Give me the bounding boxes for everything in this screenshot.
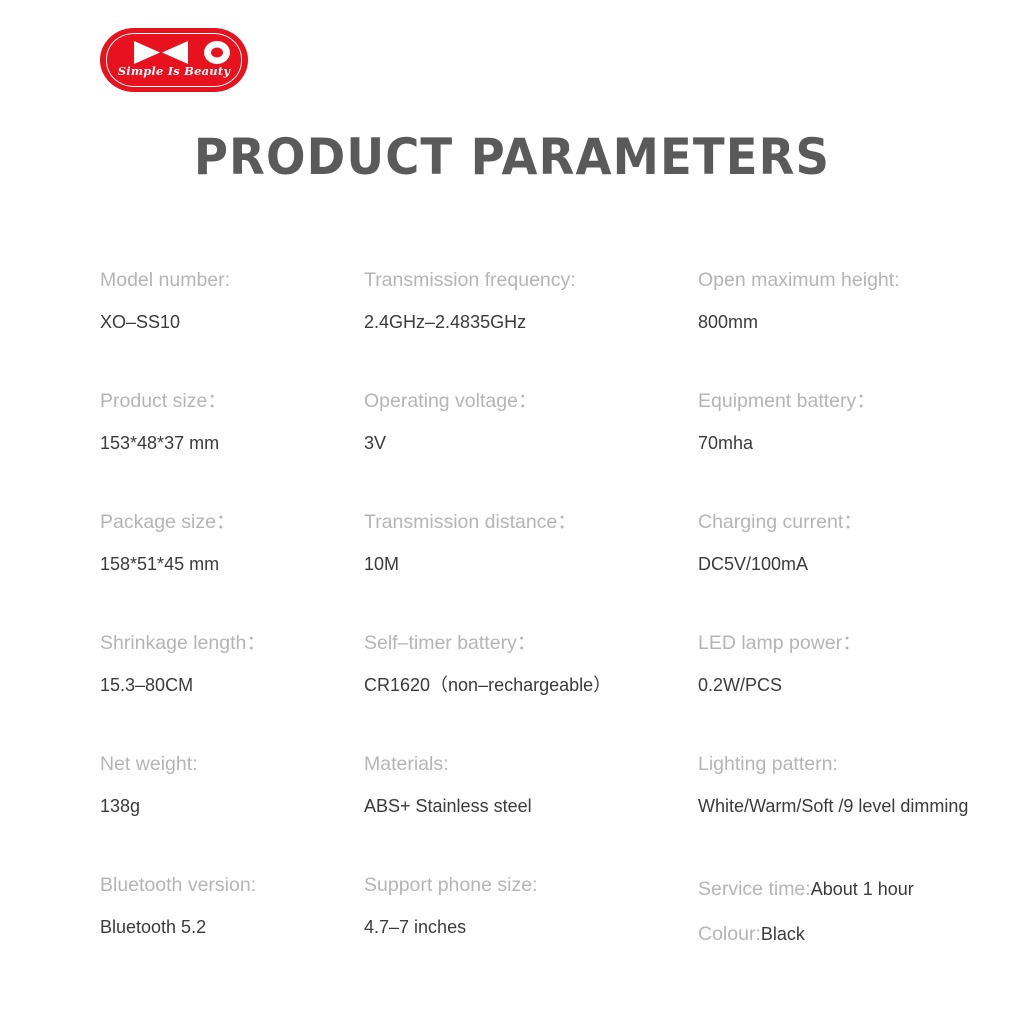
product-parameters-page: Simple Is Beauty PRODUCT PARAMETERS Mode… (0, 0, 1024, 1024)
spec-value: Bluetooth 5.2 (100, 915, 364, 939)
spec-value: 2.4GHz–2.4835GHz (364, 310, 698, 334)
spec-item-service-time: Service time: About 1 hour (698, 873, 960, 918)
spec-label: Shrinkage length： (100, 631, 364, 655)
spec-label: Operating voltage： (364, 389, 698, 413)
spec-label: Colour: (698, 923, 761, 945)
spec-value: 138g (100, 794, 364, 818)
spec-item-self-timer-battery: Self–timer battery： CR1620（non–rechargea… (364, 631, 698, 752)
specifications-grid: Model number: XO–SS10 Product size： 153*… (100, 268, 960, 994)
page-title: PRODUCT PARAMETERS (36, 128, 988, 186)
spec-item-charging-current: Charging current： DC5V/100mA (698, 510, 960, 631)
spec-item-transmission-distance: Transmission distance： 10M (364, 510, 698, 631)
spec-value: 10M (364, 552, 698, 576)
spec-value: White/Warm/Soft /9 level dimming (698, 794, 960, 818)
spec-item-product-size: Product size： 153*48*37 mm (100, 389, 364, 510)
spec-label: Bluetooth version: (100, 873, 364, 897)
spec-item-open-maximum-height: Open maximum height: 800mm (698, 268, 960, 389)
spec-label: Lighting pattern: (698, 752, 960, 776)
spec-item-package-size: Package size： 158*51*45 mm (100, 510, 364, 631)
spec-value: XO–SS10 (100, 310, 364, 334)
spec-item-net-weight: Net weight: 138g (100, 752, 364, 873)
spec-value: 800mm (698, 310, 960, 334)
spec-label: Transmission frequency: (364, 268, 698, 292)
spec-value: 3V (364, 431, 698, 455)
spec-item-transmission-frequency: Transmission frequency: 2.4GHz–2.4835GHz (364, 268, 698, 389)
spec-value: 158*51*45 mm (100, 552, 364, 576)
spec-value: 153*48*37 mm (100, 431, 364, 455)
spec-item-operating-voltage: Operating voltage： 3V (364, 389, 698, 510)
spec-value: About 1 hour (811, 879, 914, 899)
spec-column-3: Open maximum height: 800mm Equipment bat… (698, 268, 960, 994)
spec-value: 15.3–80CM (100, 673, 364, 697)
spec-label: Open maximum height: (698, 268, 960, 292)
spec-label: Self–timer battery： (364, 631, 698, 655)
spec-item-bluetooth-version: Bluetooth version: Bluetooth 5.2 (100, 873, 364, 994)
spec-value: 4.7–7 inches (364, 915, 698, 939)
xo-monogram-icon (100, 39, 248, 66)
brand-logo: Simple Is Beauty (100, 28, 248, 92)
spec-label: Charging current： (698, 510, 960, 534)
spec-value: DC5V/100mA (698, 552, 960, 576)
spec-label: LED lamp power： (698, 631, 960, 655)
spec-label: Product size： (100, 389, 364, 413)
spec-item-lighting-pattern: Lighting pattern: White/Warm/Soft /9 lev… (698, 752, 960, 873)
spec-item-model-number: Model number: XO–SS10 (100, 268, 364, 389)
spec-label: Service time: (698, 878, 811, 900)
spec-value: Black (761, 924, 805, 944)
spec-label: Transmission distance： (364, 510, 698, 534)
spec-item-led-lamp-power: LED lamp power： 0.2W/PCS (698, 631, 960, 752)
spec-label: Package size： (100, 510, 364, 534)
spec-item-equipment-battery: Equipment battery： 70mha (698, 389, 960, 510)
spec-item-materials: Materials: ABS+ Stainless steel (364, 752, 698, 873)
spec-item-shrinkage-length: Shrinkage length： 15.3–80CM (100, 631, 364, 752)
spec-value: ABS+ Stainless steel (364, 794, 698, 818)
spec-column-2: Transmission frequency: 2.4GHz–2.4835GHz… (364, 268, 698, 994)
spec-value: 0.2W/PCS (698, 673, 960, 697)
spec-label: Materials: (364, 752, 698, 776)
spec-column-1: Model number: XO–SS10 Product size： 153*… (100, 268, 364, 994)
spec-item-colour: Colour: Black (698, 918, 960, 963)
spec-label: Net weight: (100, 752, 364, 776)
spec-label: Model number: (100, 268, 364, 292)
spec-item-support-phone-size: Support phone size: 4.7–7 inches (364, 873, 698, 994)
spec-label: Equipment battery： (698, 389, 960, 413)
spec-value: CR1620（non–rechargeable） (364, 673, 698, 697)
spec-value: 70mha (698, 431, 960, 455)
logo-tagline: Simple Is Beauty (100, 64, 248, 78)
logo-badge-shape: Simple Is Beauty (100, 28, 248, 92)
spec-label: Support phone size: (364, 873, 698, 897)
